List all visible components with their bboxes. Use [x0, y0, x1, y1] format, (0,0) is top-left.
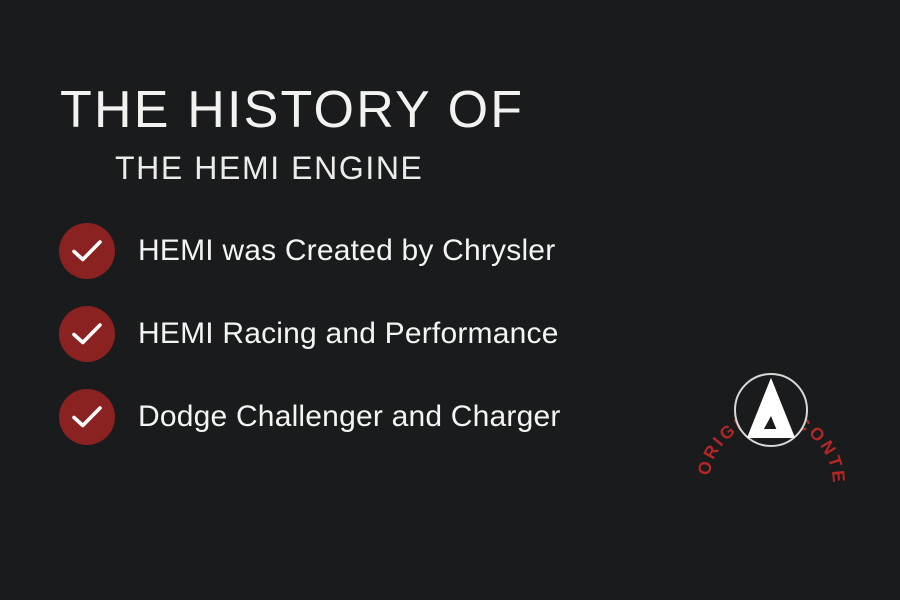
page-title: THE HISTORY OF	[60, 84, 524, 136]
list-item[interactable]: HEMI Racing and Performance	[59, 306, 561, 362]
list-item[interactable]: HEMI was Created by Chrysler	[59, 223, 561, 279]
list-item-label: HEMI Racing and Performance	[138, 319, 559, 349]
list-item-label: HEMI was Created by Chrysler	[138, 236, 555, 266]
slide-canvas: THE HISTORY OF THE HEMI ENGINE HEMI was …	[0, 0, 900, 600]
list-item-label: Dodge Challenger and Charger	[138, 402, 561, 432]
checklist: HEMI was Created by Chrysler HEMI Racing…	[59, 223, 561, 445]
list-item[interactable]: Dodge Challenger and Charger	[59, 389, 561, 445]
heading-block: THE HISTORY OF THE HEMI ENGINE	[60, 84, 524, 184]
check-icon	[59, 389, 115, 445]
page-subtitle: THE HEMI ENGINE	[115, 152, 524, 184]
check-icon	[59, 223, 115, 279]
original-content-badge: ORIGINAL CONTENT	[697, 336, 845, 484]
check-icon	[59, 306, 115, 362]
